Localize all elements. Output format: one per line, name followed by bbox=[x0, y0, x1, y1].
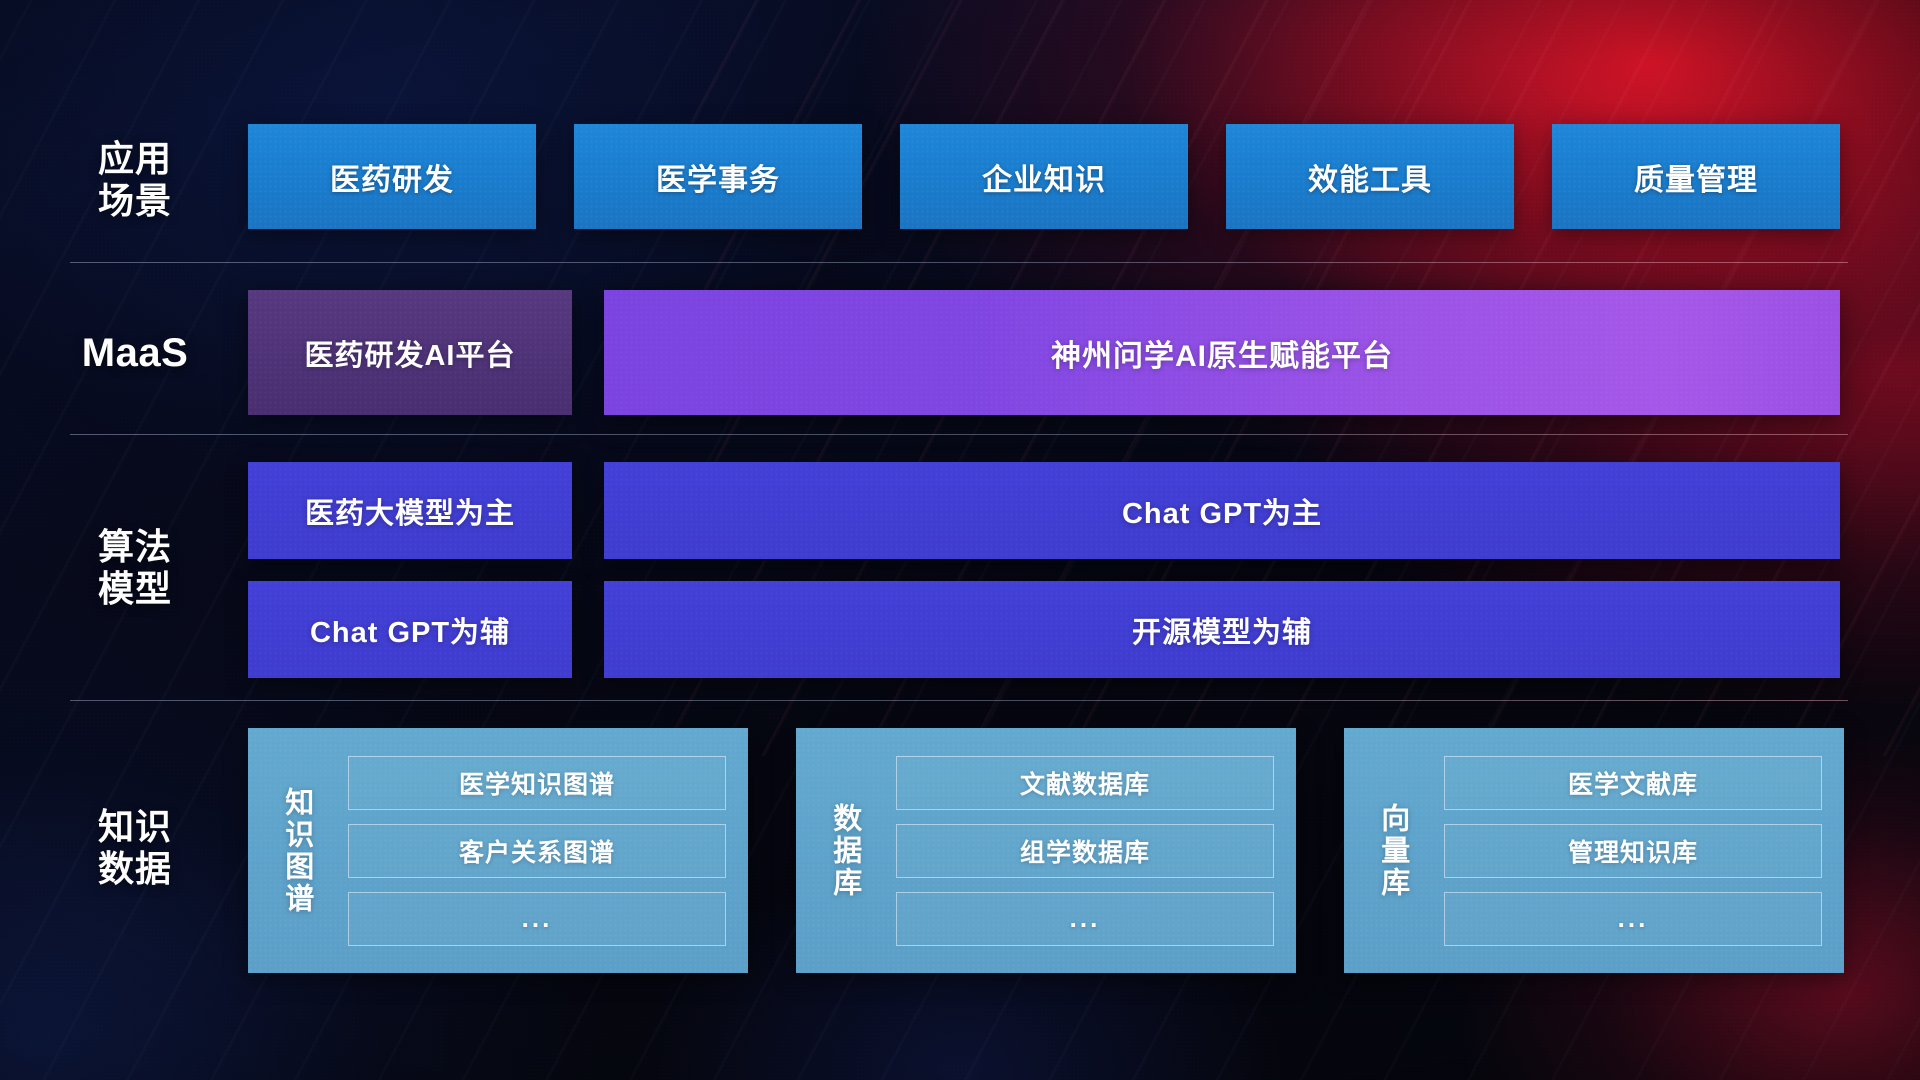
algorithm-row-primary: 医药大模型为主 Chat GPT为主 bbox=[248, 462, 1840, 559]
app-box-enterprise-knowledge[interactable]: 企业知识 bbox=[900, 124, 1188, 229]
knowledge-item-management-knowledge-store[interactable]: 管理知识库 bbox=[1444, 824, 1822, 878]
row-label-knowledge: 知识 数据 bbox=[70, 806, 200, 891]
row-label-line: 应用 bbox=[70, 138, 200, 180]
knowledge-item-more[interactable]: ... bbox=[348, 892, 726, 946]
row-label-line: 数据 bbox=[70, 848, 200, 890]
algo-box-label: Chat GPT为辅 bbox=[310, 609, 510, 651]
knowledge-group-title: 知识图谱 bbox=[248, 728, 344, 973]
maas-box-label: 医药研发AI平台 bbox=[304, 332, 515, 374]
knowledge-group-title: 数据库 bbox=[796, 728, 892, 973]
knowledge-item-literature-database[interactable]: 文献数据库 bbox=[896, 756, 1274, 810]
knowledge-group-knowledge-graph[interactable]: 知识图谱 医学知识图谱 客户关系图谱 ... bbox=[248, 728, 748, 973]
maas-box-shenzhou-wenxue-platform[interactable]: 神州问学AI原生赋能平台 bbox=[604, 290, 1840, 415]
divider-applications-maas bbox=[70, 262, 1848, 263]
knowledge-item-more[interactable]: ... bbox=[896, 892, 1274, 946]
algo-box-label: 开源模型为辅 bbox=[1132, 609, 1312, 651]
app-box-quality-management[interactable]: 质量管理 bbox=[1552, 124, 1840, 229]
algorithm-box-grid: 医药大模型为主 Chat GPT为主 Chat GPT为辅 开源模型为辅 bbox=[248, 462, 1840, 678]
row-label-applications: 应用 场景 bbox=[70, 138, 200, 223]
knowledge-item-list: 文献数据库 组学数据库 ... bbox=[892, 728, 1296, 973]
divider-algorithm-knowledge bbox=[70, 700, 1848, 701]
application-box-list: 医药研发 医学事务 企业知识 效能工具 质量管理 bbox=[248, 124, 1840, 229]
app-box-efficiency-tools[interactable]: 效能工具 bbox=[1226, 124, 1514, 229]
algo-box-label: 医药大模型为主 bbox=[305, 490, 515, 532]
knowledge-item-more[interactable]: ... bbox=[1444, 892, 1822, 946]
knowledge-item-omics-database[interactable]: 组学数据库 bbox=[896, 824, 1274, 878]
algo-box-chatgpt-secondary[interactable]: Chat GPT为辅 bbox=[248, 581, 572, 678]
algo-box-pharma-large-model-primary[interactable]: 医药大模型为主 bbox=[248, 462, 572, 559]
knowledge-group-title-text: 知识图谱 bbox=[278, 787, 313, 915]
row-label-line: 知识 bbox=[70, 806, 200, 848]
algorithm-row-secondary: Chat GPT为辅 开源模型为辅 bbox=[248, 581, 1840, 678]
algo-box-chatgpt-primary[interactable]: Chat GPT为主 bbox=[604, 462, 1840, 559]
app-box-label: 医药研发 bbox=[330, 155, 454, 199]
knowledge-item-customer-relation-graph[interactable]: 客户关系图谱 bbox=[348, 824, 726, 878]
app-box-medical-affairs[interactable]: 医学事务 bbox=[574, 124, 862, 229]
maas-box-list: 医药研发AI平台 神州问学AI原生赋能平台 bbox=[248, 290, 1840, 415]
row-label-maas: MaaS bbox=[70, 330, 200, 377]
app-box-label: 效能工具 bbox=[1308, 155, 1432, 199]
knowledge-item-medical-literature-store[interactable]: 医学文献库 bbox=[1444, 756, 1822, 810]
knowledge-item-list: 医学知识图谱 客户关系图谱 ... bbox=[344, 728, 748, 973]
knowledge-group-title-text: 向量库 bbox=[1374, 803, 1409, 899]
divider-maas-algorithm bbox=[70, 434, 1848, 435]
knowledge-group-list: 知识图谱 医学知识图谱 客户关系图谱 ... 数据库 文献数据库 组学数据库 bbox=[248, 728, 1844, 973]
app-box-label: 质量管理 bbox=[1634, 155, 1758, 199]
maas-box-label: 神州问学AI原生赋能平台 bbox=[1051, 331, 1393, 375]
row-label-algorithm: 算法 模型 bbox=[70, 526, 200, 611]
knowledge-group-title: 向量库 bbox=[1344, 728, 1440, 973]
knowledge-item-list: 医学文献库 管理知识库 ... bbox=[1440, 728, 1844, 973]
knowledge-item-medical-knowledge-graph[interactable]: 医学知识图谱 bbox=[348, 756, 726, 810]
knowledge-group-database[interactable]: 数据库 文献数据库 组学数据库 ... bbox=[796, 728, 1296, 973]
knowledge-group-vector-store[interactable]: 向量库 医学文献库 管理知识库 ... bbox=[1344, 728, 1844, 973]
row-label-line: 场景 bbox=[70, 180, 200, 222]
architecture-diagram: 应用 场景 医药研发 医学事务 企业知识 效能工具 质量管理 bbox=[0, 0, 1920, 1080]
slide-canvas: 应用 场景 医药研发 医学事务 企业知识 效能工具 质量管理 bbox=[0, 0, 1920, 1080]
algo-box-opensource-secondary[interactable]: 开源模型为辅 bbox=[604, 581, 1840, 678]
app-box-label: 医学事务 bbox=[656, 155, 780, 199]
app-box-pharma-rd[interactable]: 医药研发 bbox=[248, 124, 536, 229]
app-box-label: 企业知识 bbox=[982, 155, 1106, 199]
row-label-line: 模型 bbox=[70, 568, 200, 610]
row-label-line: MaaS bbox=[70, 330, 200, 377]
algo-box-label: Chat GPT为主 bbox=[1122, 490, 1322, 532]
maas-box-pharma-ai-platform[interactable]: 医药研发AI平台 bbox=[248, 290, 572, 415]
row-label-line: 算法 bbox=[70, 526, 200, 568]
knowledge-group-title-text: 数据库 bbox=[826, 803, 861, 899]
